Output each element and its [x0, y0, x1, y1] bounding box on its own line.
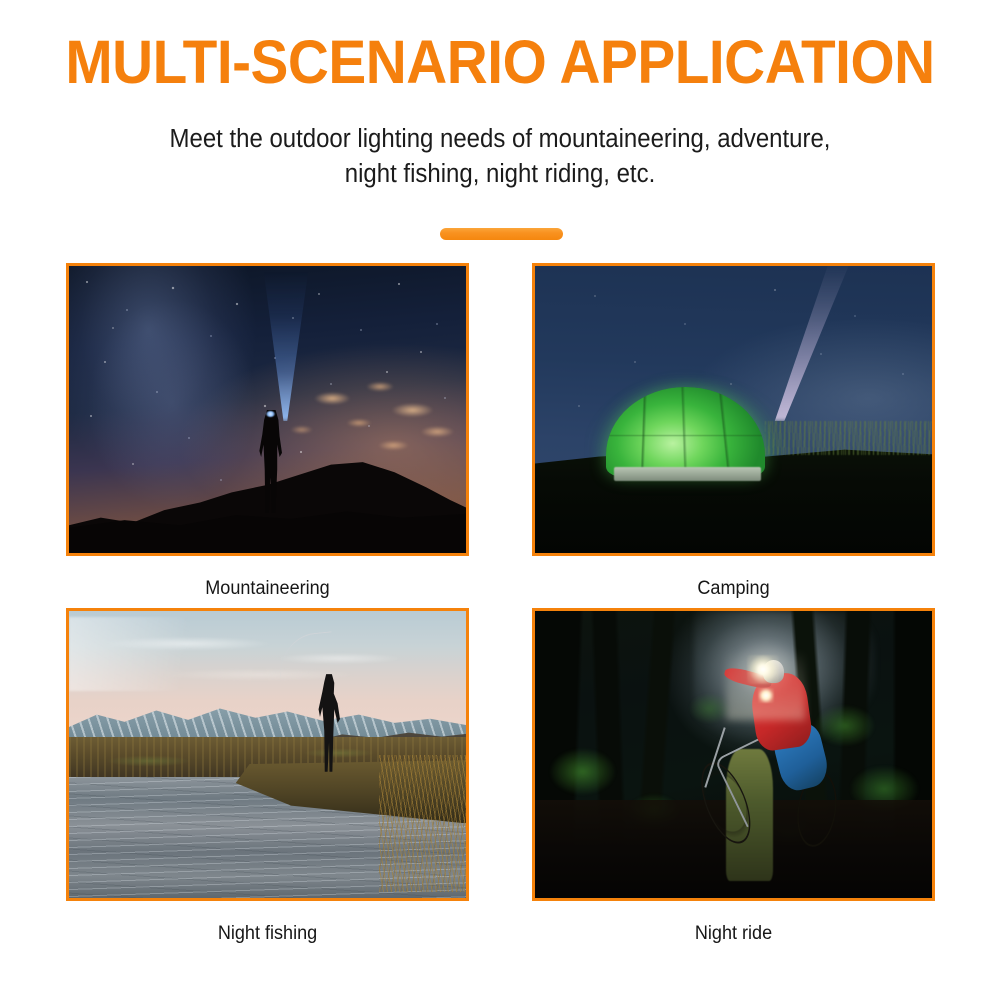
scene-angler-river [69, 611, 466, 898]
orange-divider-bar [440, 228, 563, 240]
scenario-row-top: Mountaineering [66, 263, 935, 600]
scene-glowing-tent [535, 266, 932, 553]
card-caption: Night ride [542, 901, 925, 945]
photo-mountaineering[interactable] [66, 263, 469, 556]
photo-night-fishing[interactable] [66, 608, 469, 901]
cloud-streaks [69, 617, 466, 692]
page-subtitle: Meet the outdoor lighting needs of mount… [30, 122, 970, 192]
scenario-row-bottom: Night fishing [66, 608, 935, 945]
page-title: MULTI-SCENARIO APPLICATION [35, 26, 965, 98]
photo-night-ride[interactable] [532, 608, 935, 901]
headlamp-source [266, 411, 275, 417]
promo-page: MULTI-SCENARIO APPLICATION Meet the outd… [0, 0, 1000, 1000]
subtitle-line-2: night fishing, night riding, etc. [30, 157, 970, 192]
lit-clouds [275, 369, 466, 467]
tent-base [614, 467, 761, 481]
reeds [379, 755, 466, 893]
scene-mountain-biker-forest [535, 611, 932, 898]
helmet-light [747, 655, 779, 684]
handlebar-light [758, 688, 774, 702]
card-caption: Mountaineering [76, 556, 459, 600]
scene-hiker-night-sky [69, 266, 466, 553]
grass-texture [765, 421, 932, 455]
card-caption: Night fishing [76, 901, 459, 945]
scenario-card-camping[interactable]: Camping [532, 263, 935, 600]
scenario-card-night-ride[interactable]: Night ride [532, 608, 935, 945]
scenario-card-mountaineering[interactable]: Mountaineering [66, 263, 469, 600]
photo-camping[interactable] [532, 263, 935, 556]
scenario-card-night-fishing[interactable]: Night fishing [66, 608, 469, 945]
card-caption: Camping [542, 556, 925, 600]
subtitle-line-1: Meet the outdoor lighting needs of mount… [170, 125, 831, 153]
scenario-grid: Mountaineering [66, 263, 935, 945]
